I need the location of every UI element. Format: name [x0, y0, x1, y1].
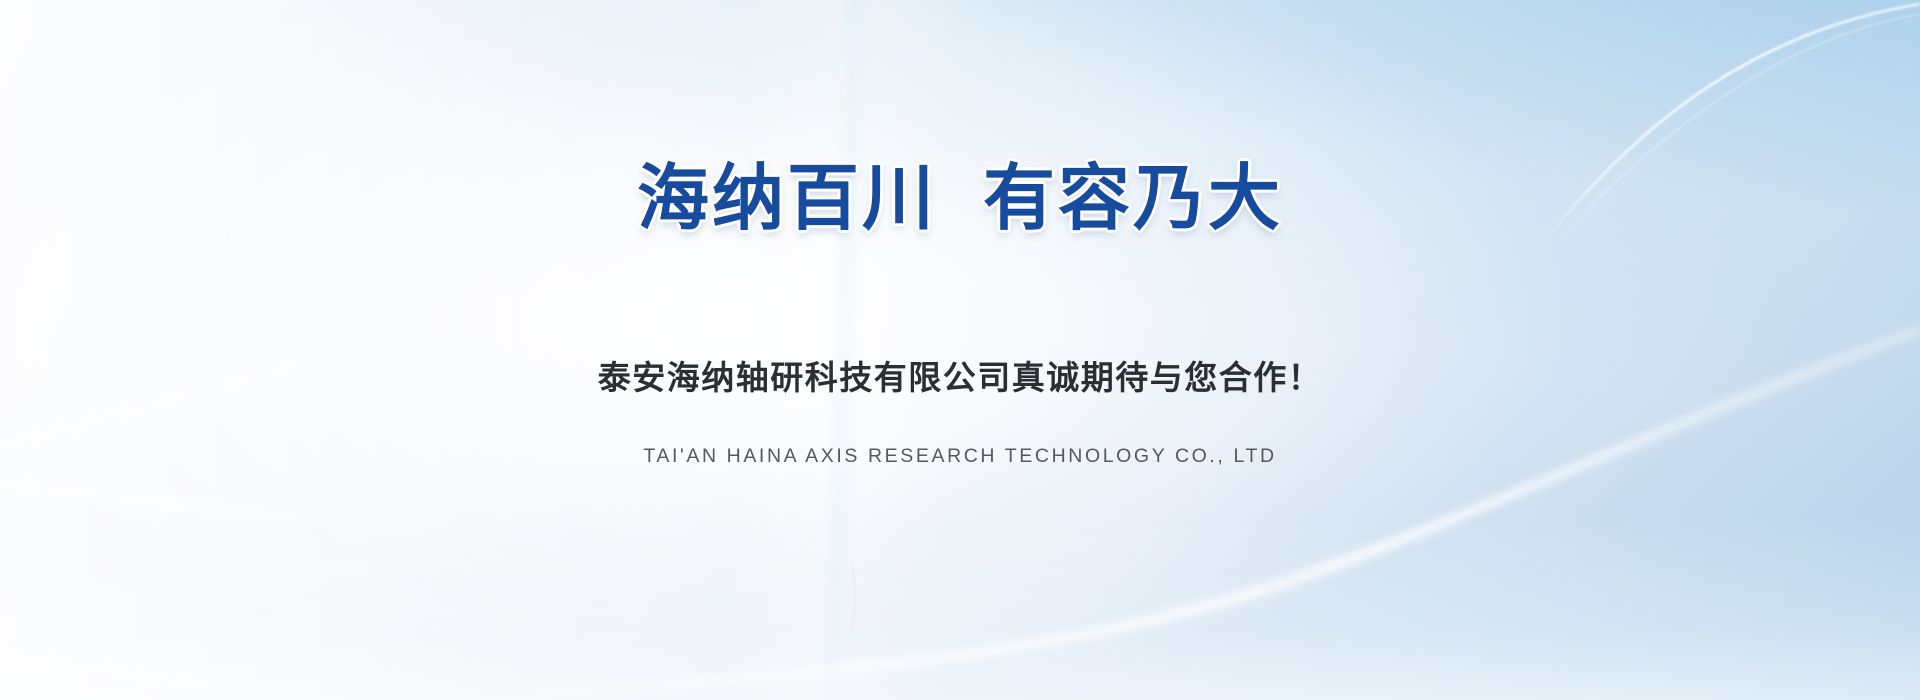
banner-subtitle-english: TAI'AN HAINA AXIS RESEARCH TECHNOLOGY CO… — [643, 445, 1276, 468]
banner-subtitle-chinese: 泰安海纳轴研科技有限公司真诚期待与您合作！ — [598, 359, 1323, 397]
banner-content: 海纳百川 有容乃大 泰安海纳轴研科技有限公司真诚期待与您合作！ TAI'AN H… — [0, 0, 1920, 700]
banner-headline: 海纳百川 有容乃大 — [637, 163, 1283, 235]
hero-banner: 海纳百川 有容乃大 泰安海纳轴研科技有限公司真诚期待与您合作！ TAI'AN H… — [0, 0, 1920, 700]
